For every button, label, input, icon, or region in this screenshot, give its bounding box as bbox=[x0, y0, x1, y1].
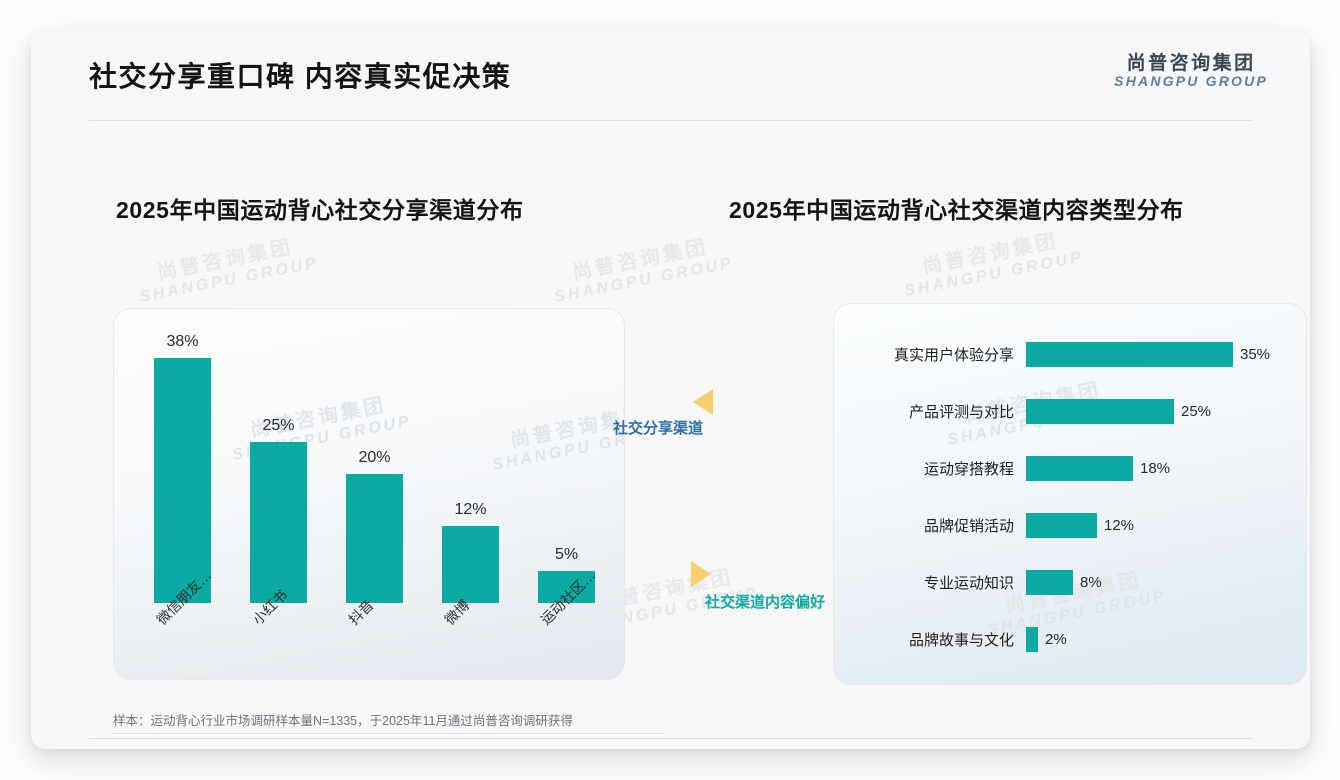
bar-row: 产品评测与对比25% bbox=[834, 383, 1306, 440]
left-chart-title: 2025年中国运动背心社交分享渠道分布 bbox=[116, 191, 524, 225]
bar-rect bbox=[346, 474, 403, 603]
brand-logo: 尚普咨询集团 SHANGPU GROUP bbox=[1114, 53, 1268, 90]
page-title: 社交分享重口碑 内容真实促决策 bbox=[89, 55, 511, 95]
right-chart-title: 2025年中国运动背心社交渠道内容类型分布 bbox=[729, 191, 1184, 225]
triangle-right-icon bbox=[691, 561, 711, 587]
bar-track: 2% bbox=[1026, 627, 1306, 652]
bar-track: 12% bbox=[1026, 513, 1306, 538]
horizontal-bar-chart: 真实用户体验分享35%产品评测与对比25%运动穿搭教程18%品牌促销活动12%专… bbox=[834, 326, 1306, 668]
bar-value-label: 38% bbox=[166, 333, 198, 351]
triangle-left-icon bbox=[693, 389, 713, 415]
bar-value-label: 25% bbox=[1181, 403, 1211, 420]
bar-rect bbox=[1026, 342, 1233, 367]
left-chart-panel: 尚普咨询集团 SHANGPU GROUP 尚普咨询集团 SHANGPU GROU… bbox=[113, 308, 625, 680]
bar-row: 运动穿搭教程18% bbox=[834, 440, 1306, 497]
slide-stage: 社交分享重口碑 内容真实促决策 尚普咨询集团 SHANGPU GROUP 202… bbox=[0, 0, 1340, 780]
bar-track: 8% bbox=[1026, 570, 1306, 595]
bar-value-label: 5% bbox=[555, 546, 578, 564]
bar-category-label: 真实用户体验分享 bbox=[834, 344, 1026, 365]
bar-value-label: 12% bbox=[454, 501, 486, 519]
watermark: 尚普咨询集团 SHANGPU GROUP bbox=[549, 232, 736, 308]
slide-card: 社交分享重口碑 内容真实促决策 尚普咨询集团 SHANGPU GROUP 202… bbox=[31, 31, 1310, 749]
watermark: 尚普咨询集团 SHANGPU GROUP bbox=[134, 232, 321, 308]
bar-rect bbox=[1026, 399, 1174, 424]
bar-row: 品牌促销活动12% bbox=[834, 497, 1306, 554]
right-chart-panel: 尚普咨询集团 SHANGPU GROUP 尚普咨询集团 SHANGPU GROU… bbox=[833, 303, 1307, 685]
bar-value-label: 8% bbox=[1080, 574, 1102, 591]
bar-rect bbox=[442, 526, 499, 603]
bar-value-label: 2% bbox=[1045, 631, 1067, 648]
footer-divider bbox=[89, 738, 1253, 739]
bar-value-label: 35% bbox=[1240, 346, 1270, 363]
bar-column: 25%小红书 bbox=[250, 442, 307, 679]
bar-rect bbox=[250, 442, 307, 603]
bar-category-label: 产品评测与对比 bbox=[834, 401, 1026, 422]
bar-column: 12%微博 bbox=[442, 526, 499, 679]
bar-category-label: 运动穿搭教程 bbox=[834, 458, 1026, 479]
slide-header: 社交分享重口碑 内容真实促决策 尚普咨询集团 SHANGPU GROUP bbox=[31, 31, 1310, 121]
bar-row: 专业运动知识8% bbox=[834, 554, 1306, 611]
bar-track: 18% bbox=[1026, 456, 1306, 481]
watermark: 尚普咨询集团 SHANGPU GROUP bbox=[899, 226, 1086, 302]
vertical-bar-chart: 38%微信朋友…25%小红书20%抖音12%微博5%运动社区… bbox=[114, 309, 624, 679]
bar-rect bbox=[1026, 513, 1097, 538]
brand-logo-cn: 尚普咨询集团 bbox=[1114, 53, 1268, 74]
bar-category-label: 品牌故事与文化 bbox=[834, 629, 1026, 650]
bar-row: 真实用户体验分享35% bbox=[834, 326, 1306, 383]
bar-rect bbox=[1026, 456, 1133, 481]
annotation-label: 社交分享渠道 bbox=[613, 417, 703, 438]
bar-value-label: 25% bbox=[262, 417, 294, 435]
bar-value-label: 18% bbox=[1140, 460, 1170, 477]
bar-row: 品牌故事与文化2% bbox=[834, 611, 1306, 668]
bar-category-label: 品牌促销活动 bbox=[834, 515, 1026, 536]
bar-value-label: 20% bbox=[358, 449, 390, 467]
bar-column: 5%运动社区… bbox=[538, 571, 595, 679]
bar-column: 38%微信朋友… bbox=[154, 358, 211, 679]
header-divider bbox=[89, 120, 1253, 121]
bar-column: 20%抖音 bbox=[346, 474, 403, 679]
bar-track: 25% bbox=[1026, 399, 1306, 424]
bar-value-label: 12% bbox=[1104, 517, 1134, 534]
sample-footnote: 样本：运动背心行业市场调研样本量N=1335，于2025年11月通过尚普咨询调研… bbox=[113, 710, 573, 729]
bar-rect bbox=[1026, 570, 1073, 595]
annotation-label: 社交渠道内容偏好 bbox=[705, 591, 825, 612]
brand-logo-en: SHANGPU GROUP bbox=[1114, 74, 1268, 90]
footnote-divider bbox=[113, 733, 663, 734]
bar-category-label: 专业运动知识 bbox=[834, 572, 1026, 593]
bar-track: 35% bbox=[1026, 342, 1306, 367]
bar-rect bbox=[1026, 627, 1038, 652]
